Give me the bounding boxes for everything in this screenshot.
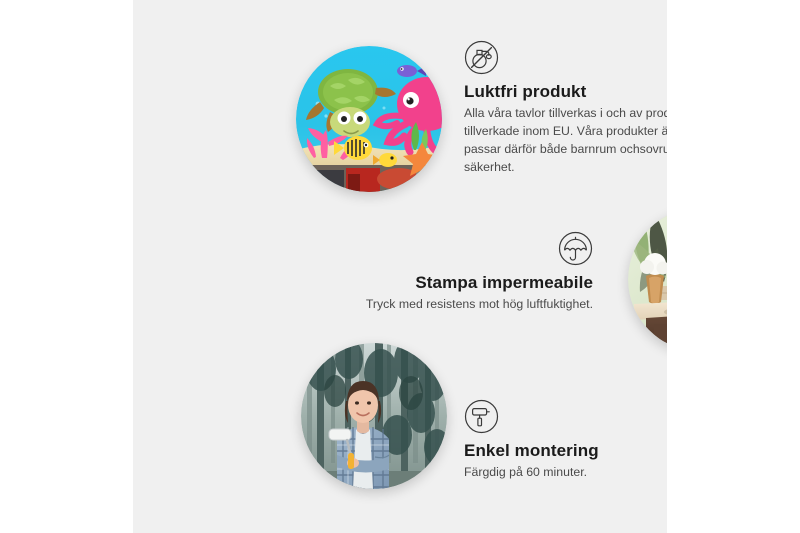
feature-title: Enkel montering — [464, 441, 667, 461]
feature-text-odourless: Luktfri produkt Alla våra tavlor tillver… — [464, 40, 667, 177]
feature-text-easy: Enkel montering Färgdig på 60 minuter. — [464, 399, 667, 482]
underwater-scene-circle — [296, 46, 442, 192]
feature-description: Tryck med resistens mot hög luftfuktighe… — [313, 296, 593, 314]
feature-title: Luktfri produkt — [464, 82, 667, 102]
bathroom-vanity-circle — [628, 208, 667, 351]
feature-description: Färgdig på 60 minuter. — [464, 464, 667, 482]
umbrella-icon — [558, 231, 593, 266]
paint-roller-icon — [464, 399, 499, 434]
promo-graphic: Luktfri produkt Alla våra tavlor tillver… — [0, 0, 800, 533]
feature-description: Alla våra tavlor tillverkas i och av pro… — [464, 105, 667, 176]
forest-wallpaper-circle — [301, 343, 447, 489]
feature-text-waterproof: Stampa impermeabile Tryck med resistens … — [313, 231, 593, 314]
feature-title: Stampa impermeabile — [313, 273, 593, 293]
content-panel: Luktfri produkt Alla våra tavlor tillver… — [133, 0, 667, 533]
no-fragrance-icon — [464, 40, 499, 75]
